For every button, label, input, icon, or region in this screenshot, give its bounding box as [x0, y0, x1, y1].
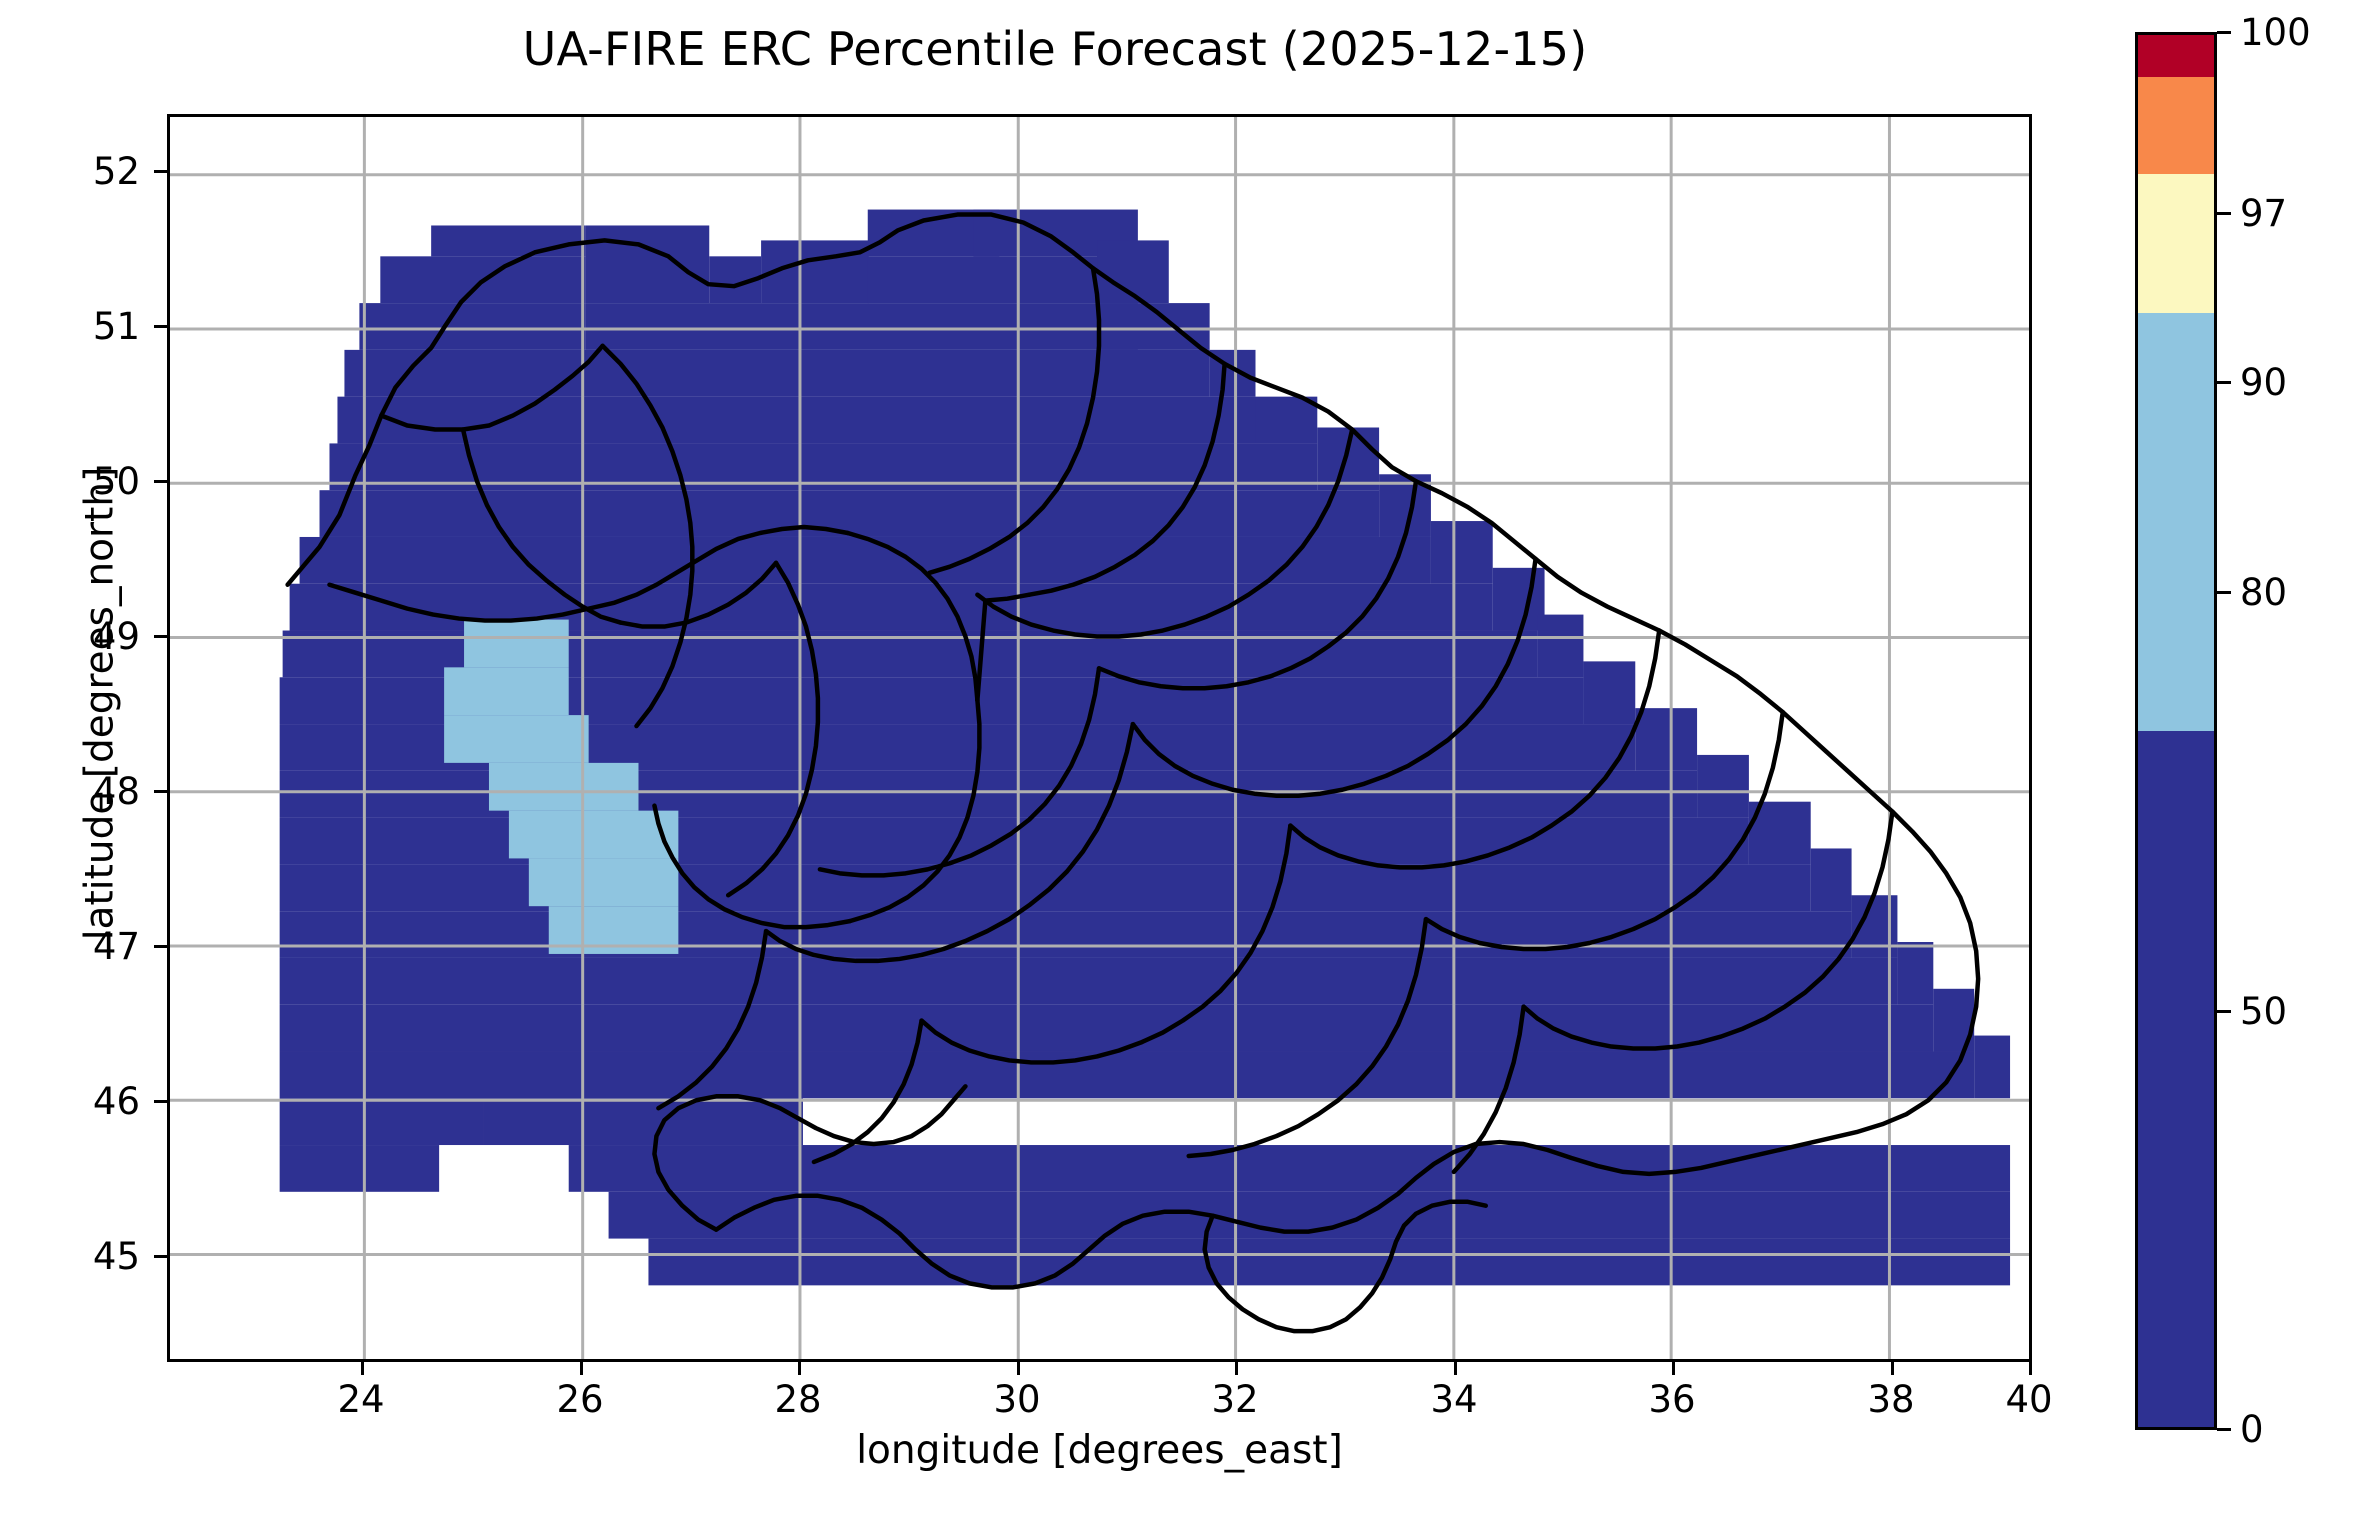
xtick-label-24: 24	[301, 1378, 421, 1421]
colorbar[interactable]	[2135, 32, 2217, 1430]
xtick-label-26: 26	[520, 1378, 640, 1421]
map-plot-area[interactable]	[167, 114, 2032, 1362]
cbtick-mark-100	[2217, 31, 2231, 34]
xtick-label-28: 28	[738, 1378, 858, 1421]
cbtick-label-50: 50	[2240, 990, 2287, 1033]
xtick-mark-36	[1672, 1362, 1675, 1375]
cbtick-label-90: 90	[2240, 361, 2287, 404]
xtick-mark-40	[2029, 1362, 2032, 1375]
cbtick-label-0: 0	[2240, 1408, 2264, 1451]
colorbar-band-0-50	[2138, 731, 2214, 1427]
xtick-label-38: 38	[1831, 1378, 1951, 1421]
y-axis-label: latitude [degrees_north]	[78, 304, 123, 1104]
ytick-mark-49	[154, 635, 167, 638]
figure-title: UA-FIRE ERC Percentile Forecast (2025-12…	[0, 22, 2110, 76]
xtick-mark-38	[1891, 1362, 1894, 1375]
xtick-mark-34	[1454, 1362, 1457, 1375]
xtick-mark-30	[1017, 1362, 1020, 1375]
colorbar-band-97-100	[2138, 35, 2214, 77]
admin-boundaries	[170, 117, 2029, 1359]
colorbar-band-90-97	[2138, 77, 2214, 174]
ytick-mark-50	[154, 480, 167, 483]
xtick-label-34: 34	[1394, 1378, 1514, 1421]
xtick-label-30: 30	[957, 1378, 1077, 1421]
ytick-mark-46	[154, 1100, 167, 1103]
cbtick-mark-0	[2217, 1428, 2231, 1431]
xtick-label-40: 40	[1969, 1378, 2089, 1421]
xtick-mark-32	[1235, 1362, 1238, 1375]
cbtick-mark-50	[2217, 1010, 2231, 1013]
cbtick-label-80: 80	[2240, 571, 2287, 614]
x-axis-label: longitude [degrees_east]	[167, 1428, 2032, 1473]
xtick-label-36: 36	[1612, 1378, 1732, 1421]
ytick-mark-48	[154, 790, 167, 793]
colorbar-band-80-90	[2138, 174, 2214, 313]
colorbar-band-50-80	[2138, 313, 2214, 731]
xtick-label-32: 32	[1175, 1378, 1295, 1421]
cbtick-mark-80	[2217, 591, 2231, 594]
figure-canvas: UA-FIRE ERC Percentile Forecast (2025-12…	[0, 0, 2354, 1517]
ytick-mark-45	[154, 1255, 167, 1258]
xtick-mark-26	[580, 1362, 583, 1375]
xtick-mark-28	[798, 1362, 801, 1375]
ytick-mark-51	[154, 325, 167, 328]
ytick-mark-47	[154, 945, 167, 948]
cbtick-label-100: 100	[2240, 11, 2311, 54]
ytick-label-52: 52	[0, 150, 140, 193]
cbtick-label-97: 97	[2240, 192, 2287, 235]
ytick-mark-52	[154, 170, 167, 173]
cbtick-mark-90	[2217, 381, 2231, 384]
xtick-mark-24	[361, 1362, 364, 1375]
cbtick-mark-97	[2217, 212, 2231, 215]
ytick-label-45: 45	[0, 1235, 140, 1278]
